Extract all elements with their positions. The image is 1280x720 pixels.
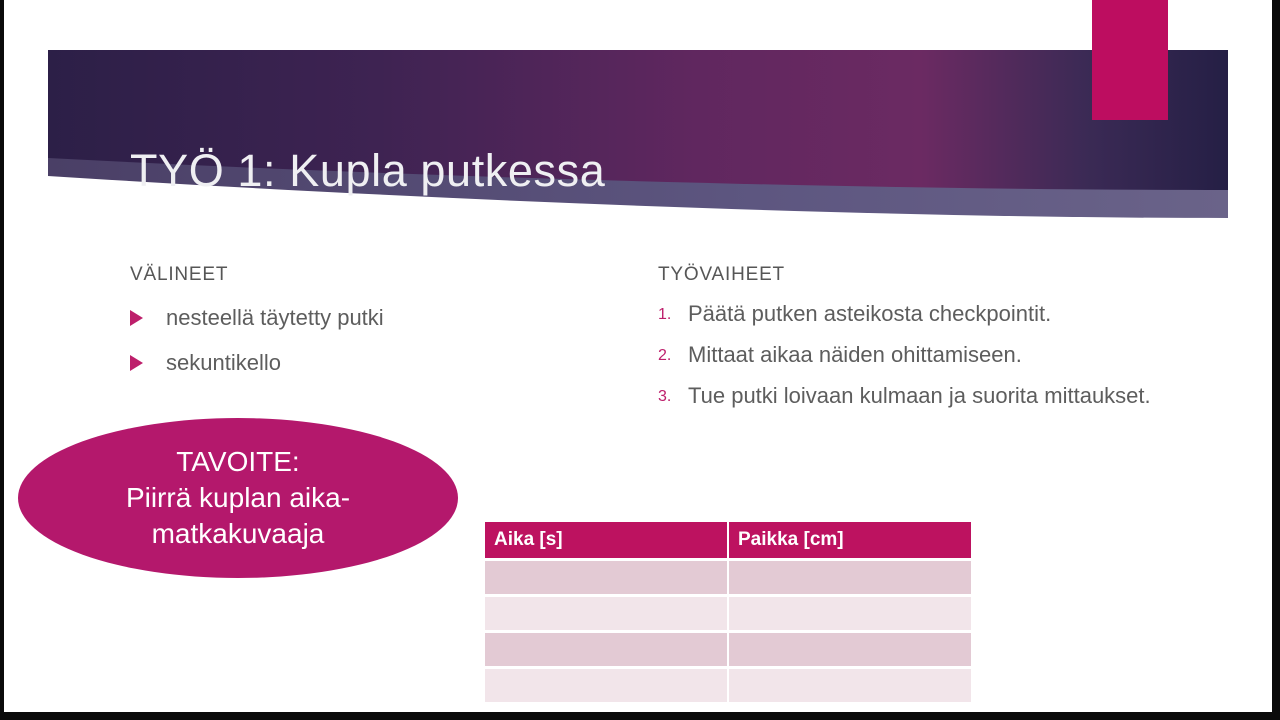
table-cell-aika[interactable] xyxy=(485,597,727,630)
table-row[interactable] xyxy=(485,597,971,630)
goal-callout-oval: TAVOITE:Piirrä kuplan aika-matkakuvaaja xyxy=(18,418,458,578)
list-item: 1. Päätä putken asteikosta checkpointit. xyxy=(658,300,1178,328)
table-cell-paikka[interactable] xyxy=(729,633,971,666)
table-cell-aika[interactable] xyxy=(485,633,727,666)
goal-callout-text: TAVOITE:Piirrä kuplan aika-matkakuvaaja xyxy=(18,444,458,551)
magenta-accent-tab xyxy=(1092,0,1168,120)
list-item: 2. Mittaat aikaa näiden ohittamiseen. xyxy=(658,341,1178,369)
procedure-heading: TYÖVAIHEET xyxy=(658,264,1178,286)
list-item-label: Tue putki loivaan kulmaan ja suorita mit… xyxy=(688,382,1151,410)
table-row[interactable] xyxy=(485,669,971,702)
table-cell-paikka[interactable] xyxy=(729,669,971,702)
table-row[interactable] xyxy=(485,633,971,666)
materials-list: nesteellä täytetty putki sekuntikello xyxy=(130,304,550,376)
measurement-table: Aika [s] Paikka [cm] xyxy=(483,519,973,705)
list-item-number: 3. xyxy=(658,388,688,406)
table-cell-aika[interactable] xyxy=(485,561,727,594)
triangle-bullet-icon xyxy=(130,355,143,371)
table-column-header-aika: Aika [s] xyxy=(485,522,727,558)
list-item-label: Mittaat aikaa näiden ohittamiseen. xyxy=(688,341,1022,369)
list-item-number: 2. xyxy=(658,347,688,365)
list-item-label: sekuntikello xyxy=(166,349,281,377)
table-row[interactable] xyxy=(485,561,971,594)
slide-viewer: TYÖ 1: Kupla putkessa VÄLINEET nesteellä… xyxy=(0,0,1280,720)
list-item-label: nesteellä täytetty putki xyxy=(166,304,384,332)
table-header-row: Aika [s] Paikka [cm] xyxy=(485,522,971,558)
table-cell-aika[interactable] xyxy=(485,669,727,702)
list-item: sekuntikello xyxy=(130,349,550,377)
table-column-header-paikka: Paikka [cm] xyxy=(729,522,971,558)
triangle-bullet-icon xyxy=(130,310,143,326)
page-title: TYÖ 1: Kupla putkessa xyxy=(130,148,605,193)
list-item-label: Päätä putken asteikosta checkpointit. xyxy=(688,300,1051,328)
materials-heading: VÄLINEET xyxy=(130,264,550,286)
viewer-frame-left xyxy=(0,0,4,720)
table-cell-paikka[interactable] xyxy=(729,561,971,594)
list-item-number: 1. xyxy=(658,306,688,324)
viewer-frame-right xyxy=(1272,0,1280,720)
title-banner: TYÖ 1: Kupla putkessa xyxy=(48,50,1228,218)
materials-column: VÄLINEET nesteellä täytetty putki sekunt… xyxy=(130,264,550,393)
table-cell-paikka[interactable] xyxy=(729,597,971,630)
procedure-list: 1. Päätä putken asteikosta checkpointit.… xyxy=(658,300,1178,410)
list-item: 3. Tue putki loivaan kulmaan ja suorita … xyxy=(658,382,1178,410)
viewer-frame-bottom xyxy=(0,712,1280,720)
procedure-column: TYÖVAIHEET 1. Päätä putken asteikosta ch… xyxy=(658,264,1178,423)
list-item: nesteellä täytetty putki xyxy=(130,304,550,332)
